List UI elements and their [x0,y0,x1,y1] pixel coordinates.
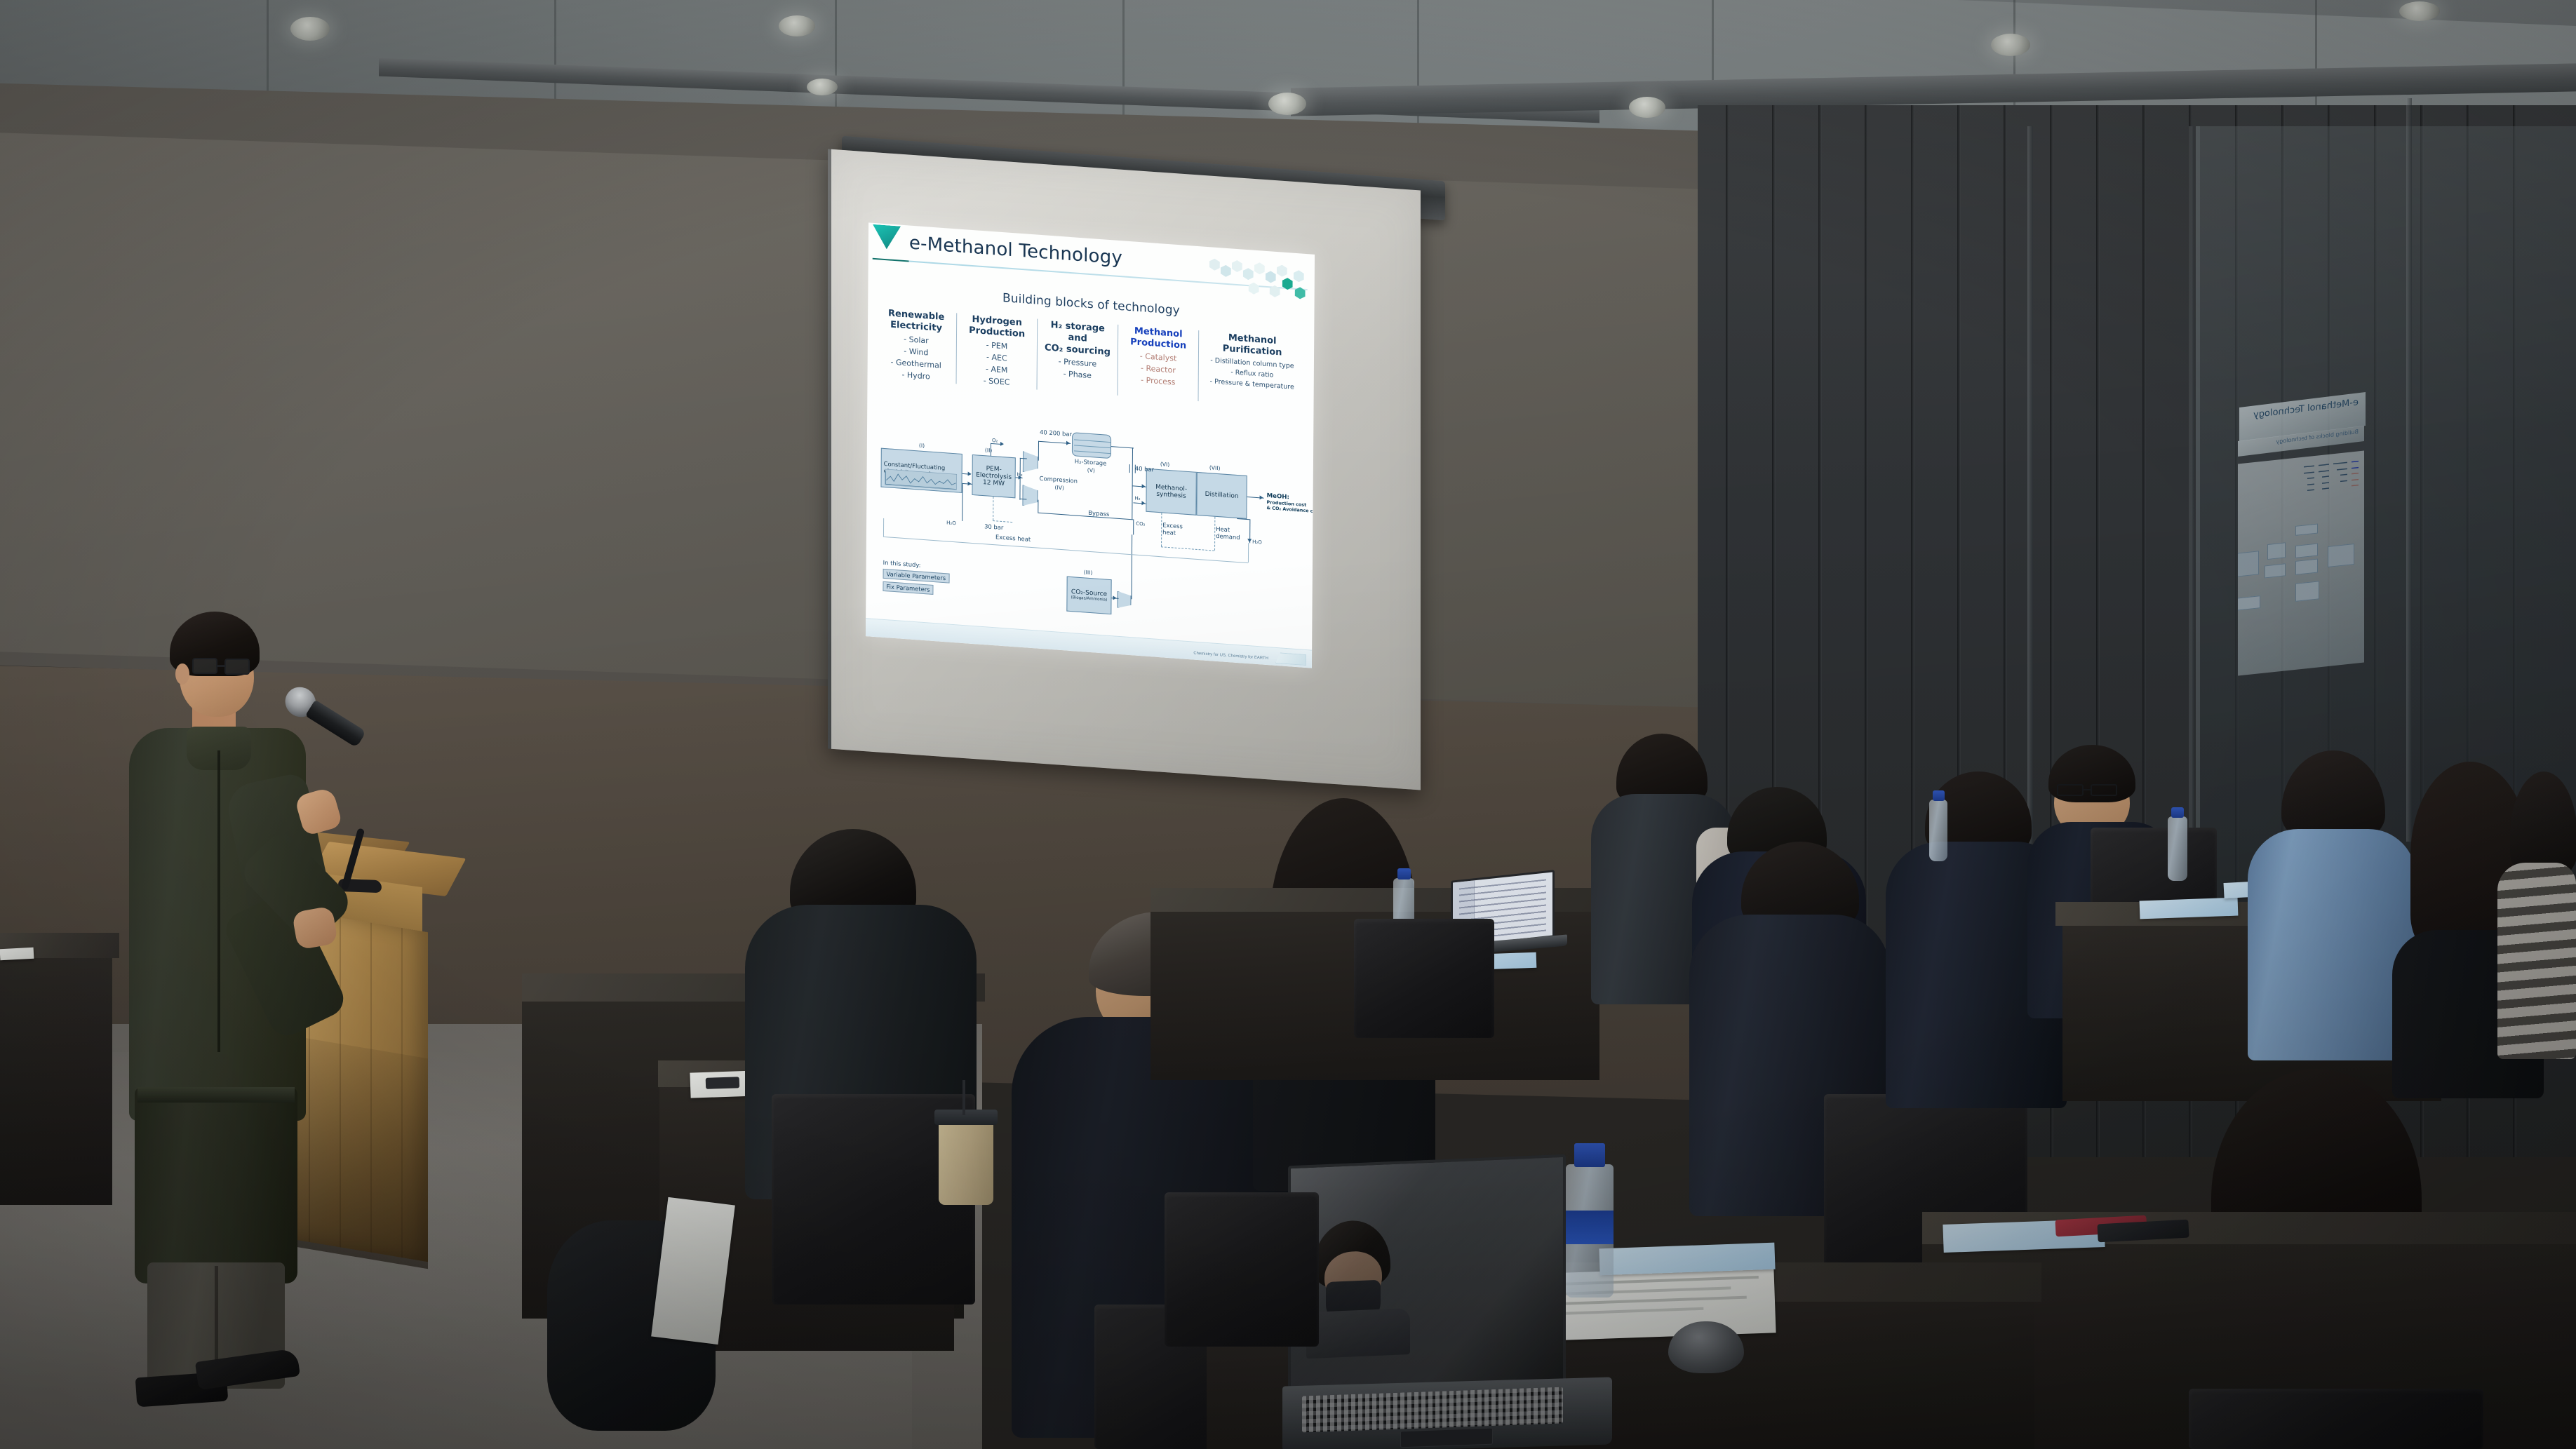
building-block-column-methanol-purification: Methanol Purification - Distillation col… [1199,330,1306,409]
fluctuating-power-curve-icon [881,449,961,492]
flow-block-electricity-supply: Constant/Fluctuating electricity supply [880,448,962,493]
laptop-screen-dark [1288,1154,1566,1394]
flow-connector [1237,518,1249,520]
water-bottle [1929,800,1947,861]
flow-label-h2-storage: H₂-Storage [1075,457,1107,466]
glasses-icon [2057,784,2121,797]
cup-lid [934,1110,998,1125]
hair [2281,750,2385,842]
flow-legend-caption: In this study: [883,559,921,569]
ceiling-downlight [779,15,815,36]
flow-block-label-line1: Distillation [1205,491,1239,501]
flow-label-40-bar: 40 bar [1135,465,1154,473]
flow-connector [962,483,963,521]
chair-foreground [2189,1389,2483,1449]
flow-co2-compressor-icon [1117,591,1131,609]
flow-connector [1131,534,1132,599]
flow-legend-variable-parameters: Variable Parameters [883,569,950,584]
bottle-cap [1574,1143,1605,1167]
flow-heat-dashed [993,497,993,520]
presenter-hand-lower [292,905,338,950]
building-block-column-h2-storage-co2-sourcing: H₂ storage and CO₂ sourcing - Pressure -… [1038,319,1119,396]
audience-person-12 [2497,771,2576,1094]
glass-mullion [2189,126,2194,912]
flow-bypass-line [1038,513,1133,520]
flow-arrowhead [1142,484,1146,488]
flow-label-bypass: Bypass [1088,509,1109,518]
flow-tag-VII: (VII) [1209,464,1221,471]
flow-connector [991,443,992,456]
flow-heat-return [1248,543,1249,562]
flow-label-h2-a: H₂ [1017,472,1023,478]
flow-heat-dashed [1161,546,1214,551]
chair-row2 [1354,919,1494,1038]
presenter-jacket-skirt [135,1087,297,1283]
flow-heat-return [883,518,885,537]
flow-block-distillation: Distillation [1196,472,1247,519]
presenter-ear [175,663,189,685]
hexagon-decoration-icon [1207,257,1312,306]
bottle-cap [1397,868,1411,879]
flow-tag-IV: (IV) [1055,484,1064,491]
flow-connector [1038,500,1039,513]
bottle-cap [1933,790,1945,801]
flow-arrowhead [968,471,972,476]
glass-reflection-slide-body: ▬▬▬▬▬▬▬▬▬▬ ▬▬▬▬▬▬▬▬▬▬▬ ▬▬▬▬▬▬▬▬▬▬▬▬ ▬▬▬▬… [2238,451,2364,676]
flow-arrowhead [1113,595,1116,600]
flow-arrowhead [1247,539,1252,542]
flow-heat-dashed [993,520,1012,523]
flow-connector [1019,458,1021,500]
flow-h2-storage-tank-icon [1072,432,1111,459]
flow-connector [1111,446,1134,449]
flow-label-compression: Compression [1040,475,1078,485]
bottle-label [1566,1211,1614,1244]
flow-connector [1020,458,1027,459]
ceiling-downlight [290,17,330,41]
flow-label-o2: O₂ [992,438,998,444]
flow-legend-fix-parameters: Fix Parameters [883,581,933,595]
building-block-column-renewable-electricity: Renewable Electricity - Solar - Wind - G… [876,307,958,384]
ceiling-downlight [2399,1,2440,21]
flow-compressor-lower-icon [1022,485,1038,507]
side-table-cloth [0,945,112,1205]
flow-connector [1133,519,1134,534]
presenter-glasses-icon [192,658,253,675]
flow-arrowhead [1000,441,1004,445]
laptop-trackpad[interactable] [1400,1428,1493,1448]
flow-label-h2-b: H₂ [1134,496,1140,502]
ceiling-downlight [807,79,838,95]
flow-block-pem-electrolysis: PEM- Electrolysis 12 MW [972,454,1015,498]
ceiling-downlight [1991,34,2030,56]
building-block-column-methanol-production: Methanol Production - Catalyst - Reactor… [1118,325,1200,401]
presenter-jacket-belt [137,1087,295,1103]
projection-screen-assembly: e-Methanol Technology [828,163,1431,766]
building-block-column-hydrogen-production: Hydrogen Production - PEM - AEC - AEM - … [957,313,1038,389]
flow-heat-dashed [1161,513,1162,546]
projected-slide: e-Methanol Technology [866,222,1315,668]
hair [2510,771,2576,877]
ceiling-downlight [1629,97,1665,118]
glass-mullion [2406,98,2412,842]
flow-block-co2-source: CO₂-Source (Biogas/Ammonia) [1066,577,1111,615]
flow-connector [1019,499,1026,500]
flow-label-h2o-in: H₂O [946,520,956,526]
column-heading-line1: H₂ storage and [1051,320,1105,344]
flow-heat-return [883,537,1248,564]
flow-arrowhead [1066,440,1070,445]
slide-footer-badge [1275,652,1306,666]
chair-mid-center [1165,1192,1319,1347]
bottle-cap [2171,807,2184,818]
drinking-straw [962,1080,965,1115]
flow-block-methanol-synthesis: Methanol- synthesis [1146,469,1196,515]
torso-striped-top [2497,863,2576,1059]
flow-tag-III: (III) [1084,569,1093,576]
paper-sheet [0,948,34,960]
flow-block-label-line2: synthesis [1156,491,1186,500]
flow-tag-V: (V) [1087,467,1095,474]
flow-label-excess-heat-main: Excess heat [995,533,1031,543]
teal-triangle-logo-icon [873,224,901,250]
flow-compressor-upper-icon [1023,451,1038,473]
presenter-jacket-zip [217,750,220,1052]
foreground-laptop [1282,1150,1717,1449]
iced-coffee-cup [939,1118,993,1205]
flow-block-label-line3: 12 MW [983,479,1005,487]
flow-heat-dashed [1214,517,1215,551]
flow-arrowhead [1260,495,1263,499]
flow-label-30-bar: 30 bar [984,523,1003,531]
flow-label-co2: CO₂ [1136,521,1145,527]
flow-tag-VI: (VI) [1160,461,1169,468]
flow-arrowhead [1141,501,1145,505]
flow-label-excess-heat: Excessheat [1162,521,1183,537]
building-blocks-row: Renewable Electricity - Solar - Wind - G… [876,307,1306,409]
flow-label-h2o-out: H₂O [1252,539,1262,546]
ceiling-downlight [1268,93,1306,115]
flow-connector [1038,441,1040,461]
water-bottle-foreground [1566,1164,1614,1298]
handout-sheet [2140,898,2239,919]
process-flow-diagram: (I) Constant/Fluctuating electricity sup… [873,433,1306,640]
water-bottle [2168,816,2187,881]
flow-tag-I: (I) [919,443,925,450]
conference-room-photo: e-Methanol Technology Building blocks of… [0,0,2576,1449]
flow-label-heat-demand: Heatdemand [1216,525,1240,541]
flow-output-meoh: MeOH: Production cost & CO₂ Avoidance co… [1266,492,1308,513]
flow-arrowhead [968,481,972,485]
flow-label-40-200-bar: 40 200 bar [1040,429,1072,438]
